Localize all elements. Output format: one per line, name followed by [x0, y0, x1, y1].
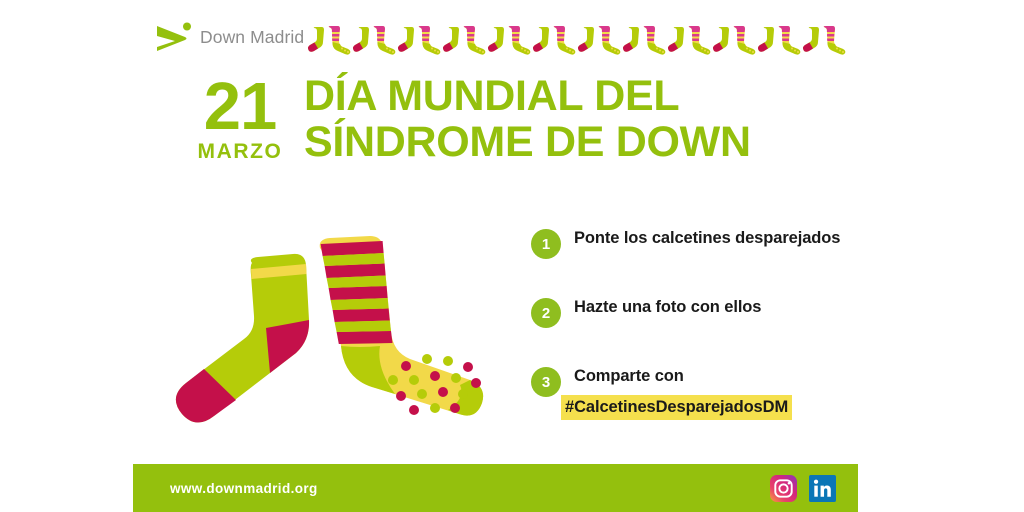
sock-pair-icon: [351, 22, 396, 62]
sock-strip-decoration: [306, 20, 846, 64]
right-sock-graphic: [320, 236, 483, 416]
linkedin-icon[interactable]: [809, 475, 836, 502]
headline-line-2: SÍNDROME DE DOWN: [304, 120, 751, 166]
headline: DÍA MUNDIAL DEL SÍNDROME DE DOWN: [304, 74, 751, 165]
step-number-badge: 2: [531, 298, 561, 328]
social-links: [770, 475, 836, 502]
sock-pair-icon: [756, 22, 801, 62]
event-month: MARZO: [186, 140, 294, 164]
brand-logo[interactable]: Down Madrid: [155, 22, 304, 52]
event-day: 21: [186, 76, 294, 138]
instagram-icon[interactable]: [770, 475, 797, 502]
page-title: 21 MARZO DÍA MUNDIAL DEL SÍNDROME DE DOW…: [186, 74, 751, 165]
step-text: Ponte los calcetines desparejados: [574, 228, 840, 250]
website-url[interactable]: www.downmadrid.org: [170, 481, 318, 496]
sock-pair-icon: [441, 22, 486, 62]
footer: www.downmadrid.org: [133, 464, 858, 512]
event-date: 21 MARZO: [186, 74, 294, 164]
brand-wordmark: Down Madrid: [200, 27, 304, 48]
headline-line-1: DÍA MUNDIAL DEL: [304, 74, 751, 120]
mismatched-socks-illustration: [148, 228, 498, 453]
step-text: Hazte una foto con ellos: [574, 297, 761, 319]
list-item: 2 Hazte una foto con ellos: [531, 297, 871, 328]
list-item: 3 Comparte con #CalcetinesDesparejadosDM: [531, 366, 871, 420]
step-text: Comparte con: [574, 366, 792, 388]
sock-pair-icon: [666, 22, 711, 62]
step-number-badge: 1: [531, 229, 561, 259]
step-number-badge: 3: [531, 367, 561, 397]
instructions-list: 1 Ponte los calcetines desparejados 2 Ha…: [531, 228, 871, 458]
header: Down Madrid: [0, 0, 1024, 68]
sock-pair-icon: [801, 22, 846, 62]
left-sock-graphic: [176, 254, 309, 423]
sock-pair-icon: [486, 22, 531, 62]
sock-pair-icon: [306, 22, 351, 62]
list-item: 1 Ponte los calcetines desparejados: [531, 228, 871, 259]
sock-pair-icon: [396, 22, 441, 62]
sock-pair-icon: [576, 22, 621, 62]
down-madrid-swoosh-logo-icon: [155, 22, 193, 52]
sock-pair-icon: [621, 22, 666, 62]
campaign-hashtag[interactable]: #CalcetinesDesparejadosDM: [561, 395, 792, 420]
sock-pair-icon: [531, 22, 576, 62]
step-content: Comparte con #CalcetinesDesparejadosDM: [561, 366, 792, 420]
sock-pair-icon: [711, 22, 756, 62]
